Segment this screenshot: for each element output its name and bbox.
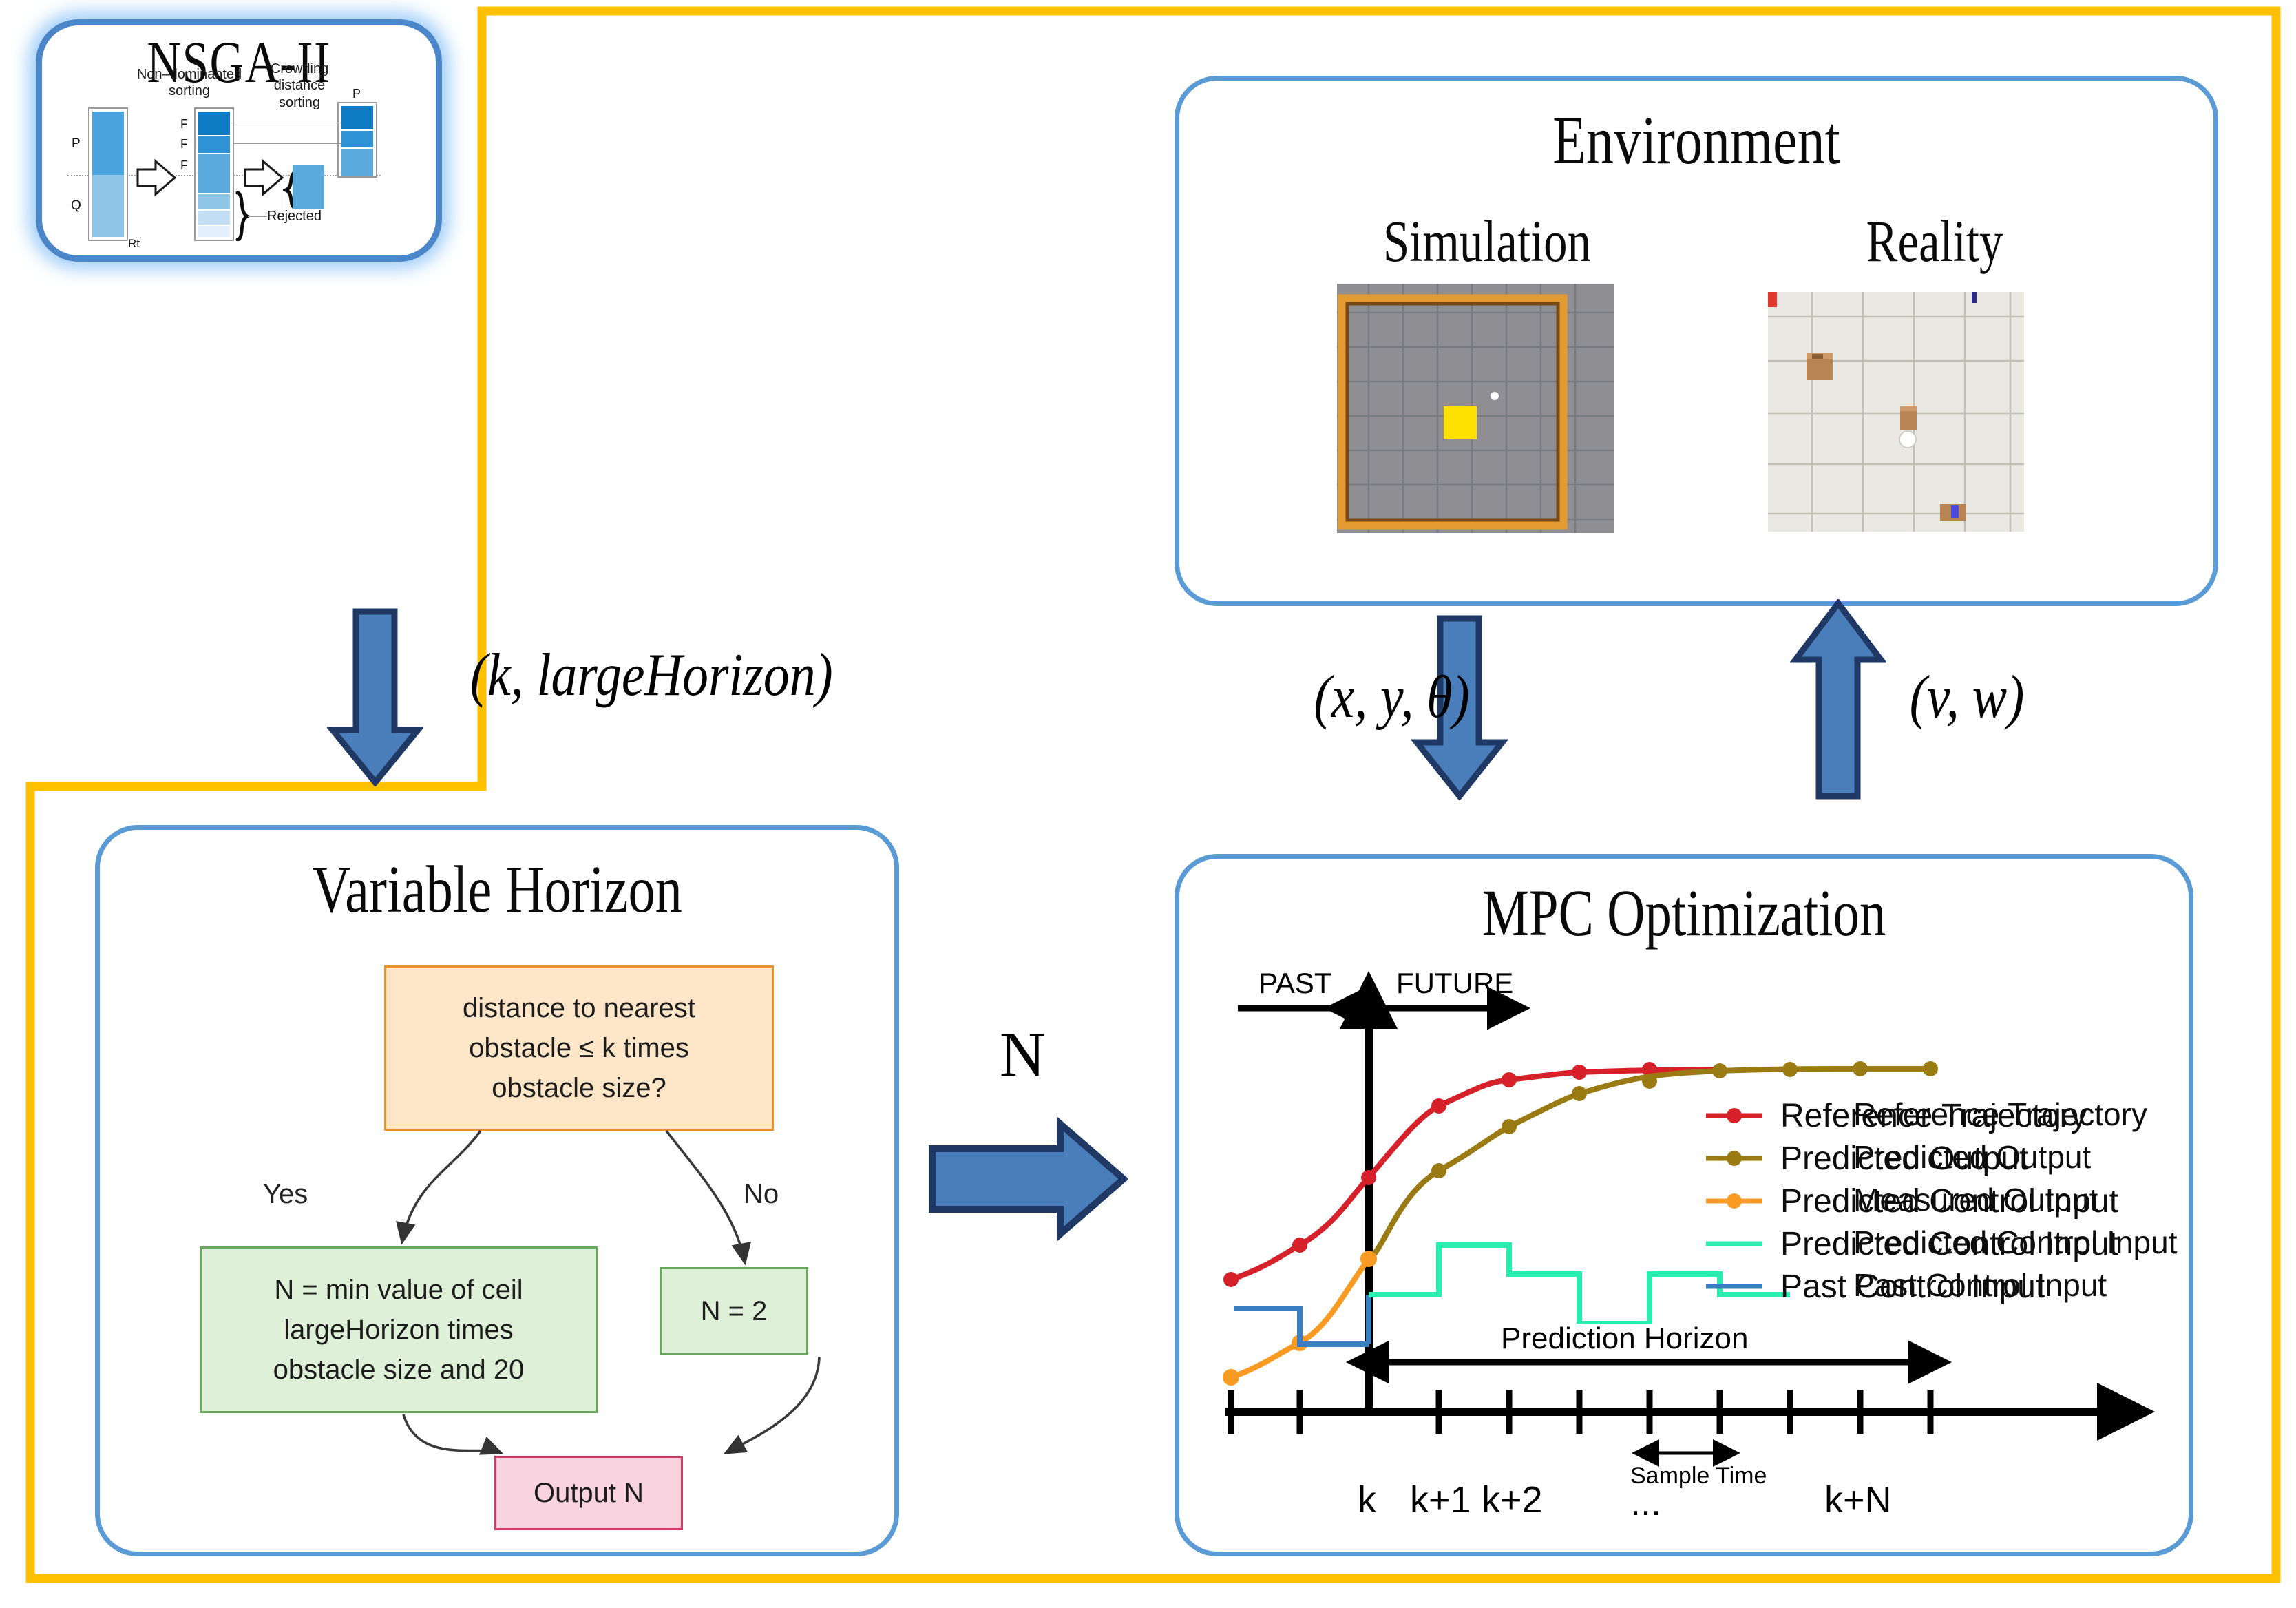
arrow-label-velocity: (v, w) [1910,662,2025,732]
mpc-legend: Reference Trajectory Predicted Output Me… [1780,1095,2221,1304]
nsga2-rt-segment-q [92,175,124,237]
nsga2-caption-crowding-l1: Crowding [271,61,328,76]
mpc-legend-row-1: Predicted Output [1780,1138,2221,1176]
svg-text:k+1: k+1 [1410,1479,1471,1521]
arrow-label-pose: (x, y, θ) [1314,662,1469,732]
nsga2-front-f2 [198,136,230,153]
nsga2-label-q-left: Q [71,198,81,213]
nsga2-link-f2 [234,143,341,144]
nsga2-caption-crowding-l3: sorting [279,95,320,110]
simulation-image [1337,284,1614,533]
nsga2-label-p-right: P [352,87,361,101]
environment-sub-simulation: Simulation [1316,207,1658,275]
nsga2-p-segment-1 [341,106,373,129]
nsga2-p-segment-2 [341,131,373,147]
nsga2-label-f3: F [180,158,188,173]
nsga2-selected-block [293,165,324,209]
mpc-legend-label-2: Measured Output [1853,1181,2098,1218]
nsga2-front-rejected-1 [198,194,230,209]
svg-text:...: ... [1630,1482,1661,1522]
svg-text:k: k [1358,1479,1377,1521]
mpc-title: MPC Optimization [1276,875,2092,951]
nsga2-caption-nondominated-l1: Non–dominanted [137,67,242,82]
mpc-legend-label-1: Predicted Output [1853,1138,2091,1176]
arrow-label-k-largehorizon: (k, largeHorizon) [470,640,833,710]
mpc-legend-label-4: Past Control Input [1853,1266,2107,1304]
mpc-legend-label-3: Predicted Control Input [1853,1224,2178,1261]
nsga2-p-segment-3 [341,149,373,176]
nsga2-link-f1 [234,123,341,123]
svg-text:Prediction Horizon: Prediction Horizon [1501,1322,1749,1355]
nsga2-outline-arrow-2 [242,157,285,198]
svg-text:FUTURE: FUTURE [1396,971,1513,999]
nsga2-rejected-leader [248,216,267,217]
nsga2-label-f2: F [180,137,188,152]
environment-title: Environment [1279,101,2114,180]
nsga2-front-f1 [198,112,230,135]
nsga2-rt-segment-p [92,112,124,175]
svg-text:k+2: k+2 [1482,1479,1543,1521]
nsga2-front-rejected-3 [198,226,230,237]
mpc-legend-row-0: Reference Trajectory [1780,1095,2221,1134]
svg-text:PAST: PAST [1258,971,1332,999]
nsga2-caption-crowding-l2: distance [274,78,326,93]
nsga2-front-f3 [198,154,230,193]
arrow-label-horizon-n: N [1000,1018,1045,1091]
nsga2-outline-arrow-1 [135,157,178,198]
mpc-legend-row-2: Measured Output [1780,1180,2221,1219]
nsga2-selection-leader [284,191,286,211]
svg-text:k+N: k+N [1824,1479,1892,1521]
arrow-nsga-to-variable-horizon [327,607,423,786]
nsga2-front-rejected-2 [198,211,230,225]
arrow-mpc-to-environment [1790,599,1886,800]
mpc-legend-row-4: Past Control Input [1780,1266,2221,1304]
nsga2-label-p-left: P [72,136,81,152]
environment-sub-reality: Reality [1764,207,2105,275]
mpc-legend-label-0: Reference Trajectory [1853,1096,2147,1133]
arrow-variable-horizon-to-mpc [928,1117,1128,1241]
nsga2-label-rt: Rt [128,237,140,251]
reality-image [1768,292,2024,532]
flow-edge-label-yes: Yes [263,1179,308,1210]
nsga2-label-rejected: Rejected [267,209,322,225]
nsga2-label-f1: F [180,117,188,132]
flow-edge-label-no: No [744,1179,779,1210]
mpc-legend-row-3: Predicted Control Input [1780,1223,2221,1262]
nsga2-caption-nondominated-l2: sorting [169,83,210,98]
